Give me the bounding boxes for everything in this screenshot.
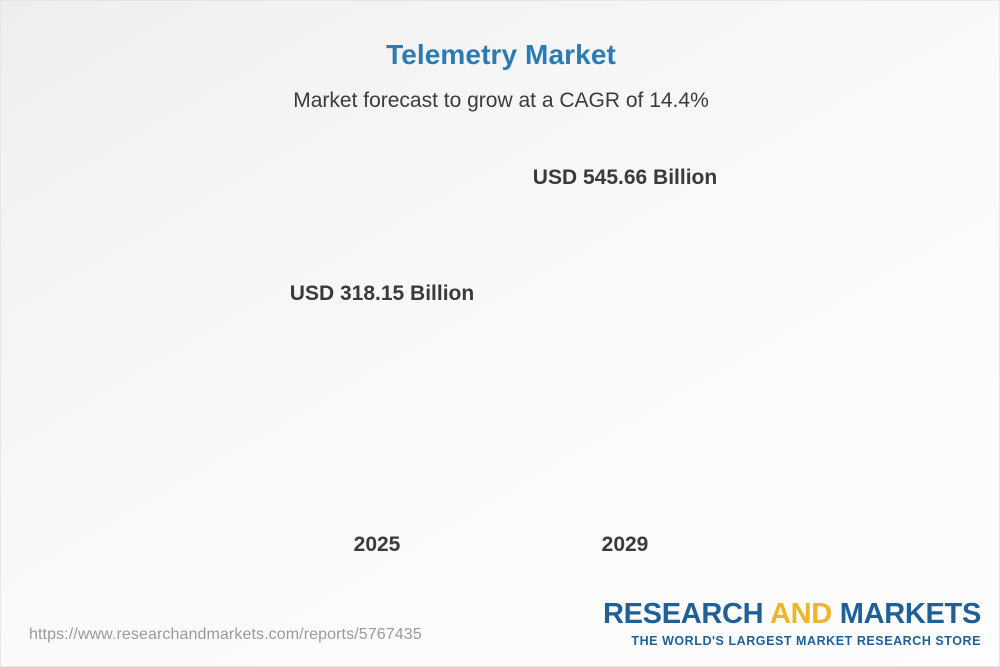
plot-area: USD 318.15 Billion 2025 USD 545.66 Billi… — [1, 1, 1000, 601]
category-label-2025: 2025 — [272, 533, 482, 557]
brand-wordmark: RESEARCH AND MARKETS — [603, 600, 981, 629]
brand-logo: RESEARCH AND MARKETS THE WORLD'S LARGEST… — [603, 600, 981, 648]
brand-tagline: THE WORLD'S LARGEST MARKET RESEARCH STOR… — [603, 634, 981, 648]
chart-card: Telemetry Market Market forecast to grow… — [0, 0, 1000, 667]
brand-wordmark-part1: RESEARCH — [603, 598, 770, 630]
source-url-link[interactable]: https://www.researchandmarkets.com/repor… — [29, 626, 422, 644]
brand-wordmark-part2: MARKETS — [832, 598, 981, 630]
category-label-2029: 2029 — [520, 533, 730, 557]
brand-wordmark-accent: AND — [770, 598, 832, 630]
value-label-2029: USD 545.66 Billion — [520, 166, 730, 190]
value-label-2025: USD 318.15 Billion — [277, 282, 487, 306]
